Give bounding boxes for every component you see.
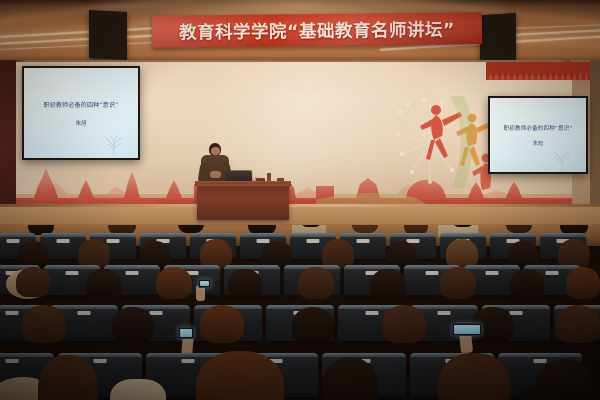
slide-subtitle-right: 朱旭	[533, 140, 543, 147]
projection-screen-right: 职初教师必备的四种“意识” 朱旭	[488, 96, 588, 174]
seat-number-tag	[307, 239, 320, 243]
seat-number-tag	[438, 311, 451, 315]
seat-number-tag	[426, 271, 439, 275]
audience-member	[506, 225, 532, 233]
slide-tree-decoration-icon	[544, 144, 580, 170]
curtain-valance-fringe	[486, 74, 590, 80]
audience-member-foreground	[438, 353, 510, 400]
seat-number-tag	[366, 311, 379, 315]
audience-member	[156, 267, 192, 299]
projection-screen-right-surface: 职初教师必备的四种“意识” 朱旭	[490, 98, 586, 172]
raised-smartphone	[198, 279, 211, 288]
raised-smartphone	[452, 323, 482, 336]
projection-screen-left: 职初教师必备的四种“意识” 朱旭	[22, 66, 140, 160]
seat-number-tag	[6, 359, 19, 363]
smartphone-screen	[454, 325, 480, 334]
event-banner-text: 教育科学学院“基础教育名师讲坛”	[179, 16, 455, 44]
audience-member	[352, 225, 378, 233]
seat-number-tag	[486, 271, 499, 275]
seat-number-tag	[78, 311, 91, 315]
lectern-table	[197, 184, 289, 220]
seat-number-tag	[57, 239, 70, 243]
smartphone-screen	[200, 281, 209, 286]
seat-number-tag	[182, 359, 195, 363]
audience-member	[556, 305, 600, 343]
audience-member	[382, 305, 426, 343]
seat-number-tag	[107, 239, 120, 243]
seated-audience	[0, 225, 600, 400]
seat-number-tag	[7, 239, 20, 243]
audience-member	[22, 305, 66, 343]
audience-member	[200, 305, 244, 343]
seat-number-tag	[357, 239, 370, 243]
lecture-hall-photo: 教育科学学院“基础教育名师讲坛”	[0, 0, 600, 400]
audience-member	[16, 267, 50, 297]
stage-edge-highlight	[0, 204, 600, 207]
audience-member	[440, 267, 476, 299]
slide-title-left: 职初教师必备的四种“意识”	[44, 100, 119, 109]
slide-tree-decoration-icon	[96, 130, 132, 156]
slide-title-right: 职初教师必备的四种“意识”	[504, 124, 573, 132]
smartphone-screen	[180, 329, 192, 337]
audience-member-coat	[110, 379, 166, 400]
audience-member	[298, 267, 334, 299]
ceiling-speaker-right	[480, 13, 516, 64]
audience-member	[178, 225, 204, 233]
audience-member	[566, 267, 600, 299]
seat-number-tag	[546, 271, 559, 275]
raised-smartphone	[178, 327, 194, 339]
seat-number-tag	[94, 359, 107, 363]
presenter-hands	[210, 171, 221, 178]
projection-screen-left-surface: 职初教师必备的四种“意识” 朱旭	[24, 68, 138, 158]
slide-subtitle-left: 朱旭	[75, 119, 86, 127]
audience-member	[292, 307, 334, 343]
ceiling-speaker-left	[89, 10, 127, 60]
seat-number-tag	[126, 271, 139, 275]
seat-number-tag	[66, 271, 79, 275]
presenter-face	[211, 147, 220, 155]
audience-member	[370, 269, 406, 301]
event-banner: 教育科学学院“基础教育名师讲坛”	[152, 12, 482, 47]
seat-number-tag	[534, 359, 547, 363]
audience-member-foreground	[536, 359, 594, 400]
seat-number-tag	[6, 311, 19, 315]
seat-number-tag	[510, 311, 523, 315]
audience-member	[228, 269, 262, 299]
audience-member	[112, 307, 154, 343]
audience-member	[510, 269, 544, 299]
audience-member	[86, 269, 122, 301]
seat-number-tag	[150, 311, 163, 315]
